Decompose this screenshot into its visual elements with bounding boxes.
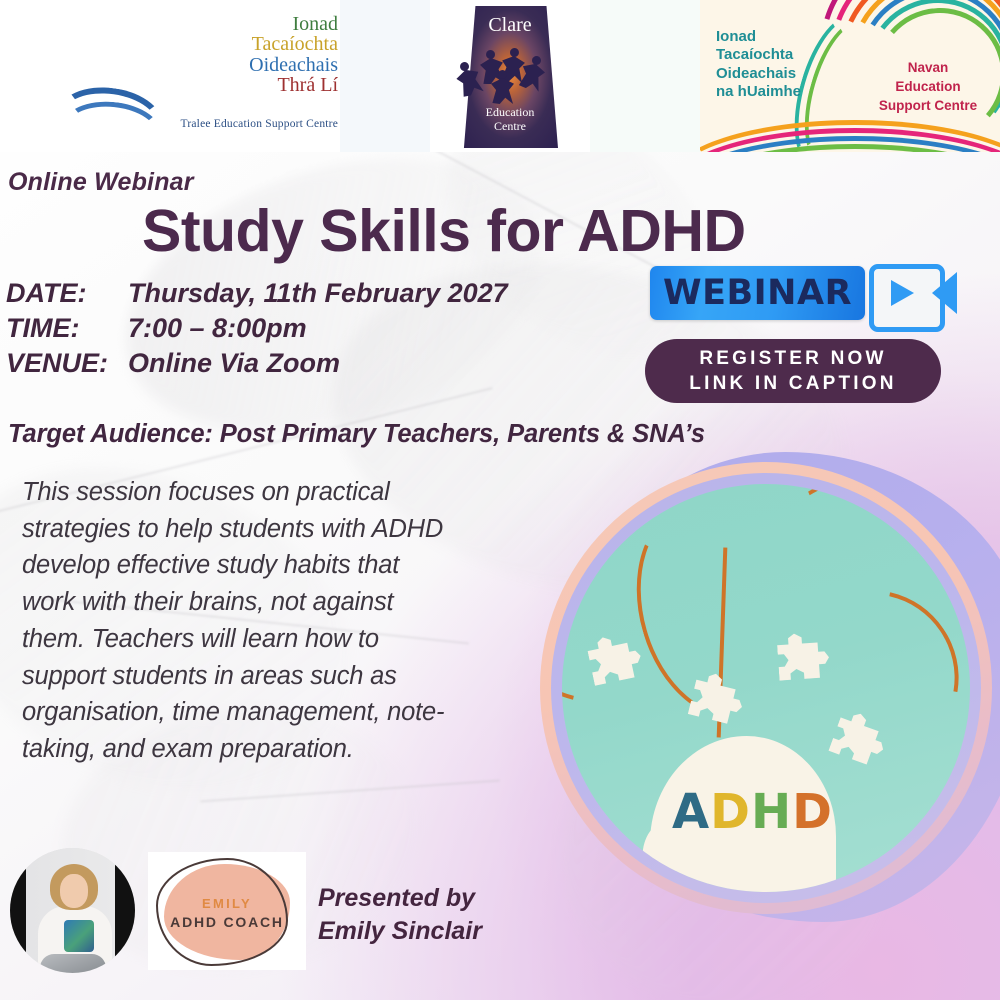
target-audience: Target Audience: Post Primary Teachers, … [8,420,705,449]
navan-rainbow-wave-icon [700,110,1000,152]
logo-strip-gap-left [340,0,430,152]
tralee-subtitle: Tralee Education Support Centre [120,118,338,130]
logo-strip-gap-right [590,0,700,152]
clare-subtitle-line-1: Education [448,106,572,120]
adhd-letter-h: H [751,784,792,840]
detail-row-date: DATE: Thursday, 11th February 2027 [6,276,626,311]
presenter-credit: Presented by Emily Sinclair [318,882,482,947]
detail-value-time: 7:00 – 8:00pm [128,311,307,346]
register-line-1: REGISTER NOW [699,346,886,371]
navan-english-name: Navan Education Support Centre [866,58,990,115]
detail-label-time: TIME: [6,311,128,346]
tralee-logo-words: Ionad Tacaíochta Oideachais Thrá Lí [140,14,338,96]
mint-disc: ADHD [562,484,970,892]
navan-english-line-2: Education [866,77,990,96]
session-description: This session focuses on practical strate… [22,474,452,768]
tralee-line-3: Oideachais [140,55,338,75]
camera-lens-icon [932,272,957,314]
adhd-letter-d1: D [710,784,751,840]
clare-dancing-figures-icon [454,44,566,106]
logo-navan-education-support-centre: Ionad Tacaíochta Oideachais na hUaimhe N… [700,0,1000,152]
tralee-line-4: Thrá Lí [140,75,338,95]
webinar-badge: WEBINAR [650,266,865,320]
detail-label-venue: VENUE: [6,346,128,381]
detail-value-date: Thursday, 11th February 2027 [128,276,508,311]
tralee-line-2: Tacaíochta [140,34,338,54]
emily-logo-role: ADHD COACH [148,914,306,930]
logo-clare-education-centre: Clare Education Centre [430,0,590,152]
adhd-illustration: ADHD [540,462,992,914]
blob-outline-shape [156,858,288,966]
head-profile-nose [642,824,676,884]
clare-subtitle: Education Centre [448,106,572,134]
detail-label-date: DATE: [6,276,128,311]
detail-row-time: TIME: 7:00 – 8:00pm [6,311,626,346]
presenter-credit-line-1: Presented by [318,882,482,915]
register-now-button[interactable]: REGISTER NOW LINK IN CAPTION [645,339,941,403]
clare-subtitle-line-2: Centre [448,120,572,134]
clare-title: Clare [448,14,572,37]
navan-english-line-1: Navan [866,58,990,77]
emily-adhd-coach-logo: EMILY ADHD COACH [148,852,306,970]
webinar-poster: Ionad Tacaíochta Oideachais Thrá Lí Tral… [0,0,1000,1000]
navan-english-line-3: Support Centre [866,96,990,115]
emily-logo-name: EMILY [148,896,306,911]
event-details-list: DATE: Thursday, 11th February 2027 TIME:… [6,276,626,381]
tralee-line-1: Ionad [140,14,338,34]
partner-logo-strip: Ionad Tacaíochta Oideachais Thrá Lí Tral… [0,0,1000,152]
webinar-badge-label: WEBINAR [663,273,852,313]
play-triangle-icon [891,280,914,306]
navan-irish-name: Ionad Tacaíochta Oideachais na hUaimhe [716,28,846,101]
register-line-2: LINK IN CAPTION [689,371,896,396]
adhd-acronym: ADHD [672,784,833,840]
adhd-letter-a1: A [672,784,710,840]
presenter-credit-line-2: Emily Sinclair [318,915,482,948]
presenter-avatar [10,848,135,973]
kicker-online-webinar: Online Webinar [8,168,194,197]
logo-tralee-education-support-centre: Ionad Tacaíochta Oideachais Thrá Lí Tral… [0,0,340,152]
page-title: Study Skills for ADHD [142,197,746,265]
detail-row-venue: VENUE: Online Via Zoom [6,346,626,381]
adhd-letter-d2: D [792,784,833,840]
detail-value-venue: Online Via Zoom [128,346,340,381]
